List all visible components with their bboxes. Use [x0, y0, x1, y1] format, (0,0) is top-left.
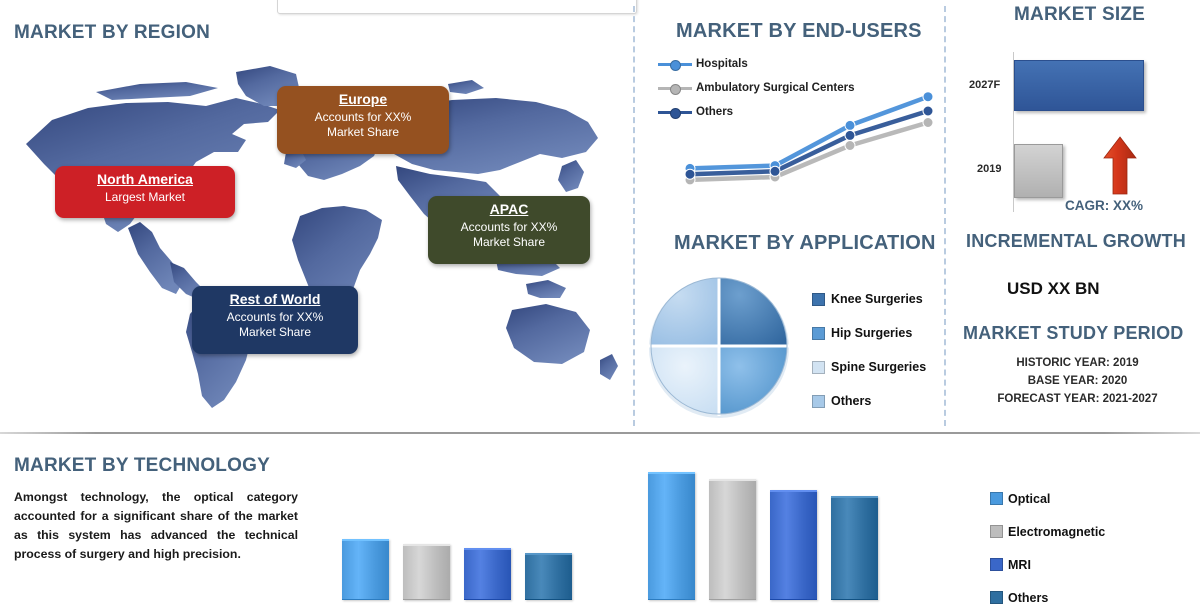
color-swatch-icon: [812, 395, 825, 408]
tech-bar: [525, 553, 572, 600]
tech-bar: [403, 544, 450, 600]
legend-label: Ambulatory Surgical Centers: [696, 82, 854, 94]
legend-label: Electromagnetic: [1008, 525, 1105, 539]
section-title-market-size: MARKET SIZE: [1014, 4, 1145, 26]
section-title-end-users: MARKET BY END-USERS: [676, 20, 922, 43]
legend-label: Hip Surgeries: [831, 326, 912, 340]
color-swatch-icon: [990, 591, 1003, 604]
legend-label: Others: [696, 106, 733, 118]
end-users-legend: Hospitals Ambulatory Surgical Centers Ot…: [658, 52, 854, 124]
legend-item-optical[interactable]: Optical: [990, 482, 1105, 515]
legend-label: Others: [831, 394, 871, 408]
study-historic-year: HISTORIC YEAR: 2019: [960, 355, 1195, 373]
callout-title: APAC: [438, 201, 580, 219]
vertical-divider-right: [944, 6, 946, 426]
study-base-year: BASE YEAR: 2020: [960, 373, 1195, 391]
market-size-bar-chart: 2027F 2019 CAGR: XX%: [955, 48, 1195, 220]
growth-arrow-icon: [1103, 136, 1137, 196]
section-title-technology: MARKET BY TECHNOLOGY: [14, 455, 270, 477]
bar-2019: [1014, 144, 1063, 198]
application-pie-chart: [645, 272, 793, 420]
color-swatch-icon: [990, 492, 1003, 505]
callout-title: Europe: [287, 91, 439, 109]
legend-item-others[interactable]: Others: [990, 581, 1105, 614]
technology-bar-chart: [330, 455, 860, 600]
legend-label: Hospitals: [696, 58, 748, 70]
section-title-application: MARKET BY APPLICATION: [674, 232, 936, 255]
color-swatch-icon: [812, 327, 825, 340]
legend-label: Optical: [1008, 492, 1050, 506]
tech-bar: [342, 539, 389, 600]
callout-line-2: Market Share: [438, 235, 580, 250]
callout-line-1: Accounts for XX%: [438, 220, 580, 235]
vertical-divider-left: [633, 6, 635, 426]
callout-title: Rest of World: [202, 291, 348, 309]
tech-bar: [648, 472, 695, 600]
application-legend: Knee Surgeries Hip Surgeries Spine Surge…: [812, 282, 926, 418]
legend-item-hospitals[interactable]: Hospitals: [658, 52, 854, 76]
study-period-details: HISTORIC YEAR: 2019 BASE YEAR: 2020 FORE…: [960, 355, 1195, 408]
legend-label: MRI: [1008, 558, 1031, 572]
callout-rest-of-world[interactable]: Rest of World Accounts for XX% Market Sh…: [192, 286, 358, 354]
callout-apac[interactable]: APAC Accounts for XX% Market Share: [428, 196, 590, 264]
color-swatch-icon: [812, 293, 825, 306]
callout-line-1: Accounts for XX%: [287, 110, 439, 125]
incremental-growth-value: USD XX BN: [1007, 279, 1100, 299]
legend-item-others[interactable]: Others: [658, 100, 854, 124]
tech-bar: [831, 496, 878, 600]
callout-europe[interactable]: Europe Accounts for XX% Market Share: [277, 86, 449, 154]
callout-line-1: Accounts for XX%: [202, 310, 348, 325]
legend-item-hip[interactable]: Hip Surgeries: [812, 316, 926, 350]
legend-item-electromagnetic[interactable]: Electromagnetic: [990, 515, 1105, 548]
infographic-page: MARKET BY REGION: [0, 0, 1200, 600]
callout-line-2: Market Share: [287, 125, 439, 140]
line-marker-icon: [658, 58, 692, 70]
bar-label-2027: 2027F: [969, 79, 1000, 91]
color-swatch-icon: [990, 558, 1003, 571]
bar-label-2019: 2019: [977, 163, 1001, 175]
tech-bar: [464, 548, 511, 600]
legend-item-mri[interactable]: MRI: [990, 548, 1105, 581]
study-forecast-year: FORECAST YEAR: 2021-2027: [960, 391, 1195, 409]
section-title-study-period: MARKET STUDY PERIOD: [963, 323, 1184, 344]
legend-item-ambulatory[interactable]: Ambulatory Surgical Centers: [658, 76, 854, 100]
callout-line-1: Largest Market: [65, 190, 225, 205]
cagr-label: CAGR: XX%: [1065, 198, 1143, 213]
legend-label: Others: [1008, 591, 1048, 605]
technology-description: Amongst technology, the optical category…: [14, 488, 298, 564]
legend-label: Spine Surgeries: [831, 360, 926, 374]
horizontal-divider: [0, 432, 1200, 434]
color-swatch-icon: [990, 525, 1003, 538]
line-marker-icon: [658, 82, 692, 94]
tech-bar: [770, 490, 817, 600]
technology-legend: Optical Electromagnetic MRI Others: [990, 482, 1105, 614]
tech-bar: [709, 479, 756, 600]
callout-line-2: Market Share: [202, 325, 348, 340]
callout-north-america[interactable]: North America Largest Market: [55, 166, 235, 218]
top-panel: [277, 0, 637, 14]
color-swatch-icon: [812, 361, 825, 374]
callout-title: North America: [65, 171, 225, 189]
legend-item-spine[interactable]: Spine Surgeries: [812, 350, 926, 384]
bar-2027: [1014, 60, 1144, 111]
line-marker-icon: [658, 106, 692, 118]
section-title-incremental-growth: INCREMENTAL GROWTH: [966, 231, 1186, 252]
legend-item-knee[interactable]: Knee Surgeries: [812, 282, 926, 316]
legend-label: Knee Surgeries: [831, 292, 923, 306]
legend-item-others[interactable]: Others: [812, 384, 926, 418]
section-title-region: MARKET BY REGION: [14, 22, 210, 44]
